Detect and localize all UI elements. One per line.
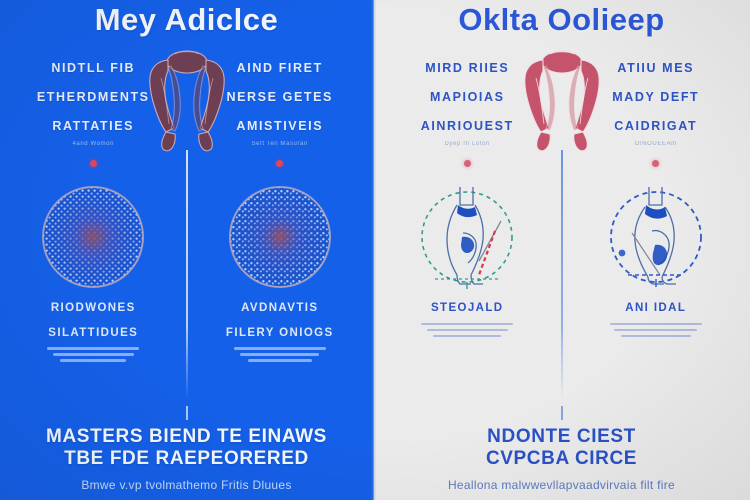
left-panel-title: Mey Adiclce [0, 2, 373, 38]
keyword: MIRD RIIES [373, 62, 562, 75]
footer-headline-line1: MASTERS BIEND TE EINAWS [14, 426, 359, 447]
keyword: RATTATIES [0, 120, 187, 133]
caption-rule [427, 329, 508, 332]
caption-rule [248, 359, 312, 362]
panel-divider [371, 0, 376, 500]
right-column-1: MIRD RIIES MAPIOIAS AINRIOUEST Dyep Ifi … [373, 58, 562, 341]
stipple-sphere-icon [226, 183, 334, 291]
caption-rule [47, 347, 139, 350]
stipple-sphere-figure-1 [39, 183, 147, 291]
caption-rule [421, 323, 513, 326]
footer-subtext: Heallona malwwevllapvaadvirvaia filt fir… [387, 478, 736, 492]
caption-rules [610, 323, 702, 338]
stipple-sphere-icon [39, 183, 147, 291]
figure-caption-line1: ANI IDAL [562, 301, 750, 315]
caption-rule [240, 353, 319, 356]
red-dot-marker-icon [276, 160, 283, 167]
micro-caption: 4and Womon [0, 141, 187, 147]
keyword: NIDTLL FIB [0, 62, 187, 75]
keyword: AMISTIVEIS [187, 120, 374, 133]
keyword: AIND FIRET [187, 62, 374, 75]
dashed-circle-figure-blue [602, 183, 710, 291]
caption-rules [234, 347, 326, 362]
figure-caption-line2: SILATTIDUES [0, 326, 187, 340]
right-panel-footer: NDONTE CIEST CVPCBA CIRCE Heallona malww… [373, 406, 750, 492]
poster-canvas: Mey Adiclce NIDTLL FIB ETHE [0, 0, 750, 500]
footer-tick-divider [561, 406, 563, 420]
figure-caption-line1: RIODWONES [0, 301, 187, 315]
pale-dot-marker-icon [464, 160, 471, 167]
caption-rule [621, 335, 691, 338]
dashed-circle-figure-teal [413, 183, 521, 291]
figure-caption-line2: FILERY ONIOGS [187, 326, 374, 340]
micro-caption: Seft Tell Masuran [187, 141, 374, 147]
caption-rule [234, 347, 326, 350]
footer-subtext: Bmwe v.vp tvolmathemo Fritis Dluues [14, 478, 359, 492]
footer-headline-line2: TBE FDE RAEPEORERED [14, 448, 359, 469]
keyword: NERSE GETES [187, 91, 374, 104]
caption-rule [60, 359, 126, 362]
caption-rule [433, 335, 501, 338]
keyword: MADY DEFT [562, 91, 750, 104]
keyword: ATIIU MES [562, 62, 750, 75]
posture-diagram-teal-icon [413, 183, 521, 291]
right-panel-title: Oklta Oolieep [373, 2, 750, 38]
figure-caption-line1: STEOJALD [373, 301, 562, 315]
footer-headline-line2: CVPCBA CIRCE [387, 448, 736, 469]
footer-tick-divider [186, 406, 188, 420]
stipple-sphere-figure-2 [226, 183, 334, 291]
keyword: AINRIOUEST [373, 120, 562, 133]
red-dot-marker-icon [90, 160, 97, 167]
caption-rule [610, 323, 702, 326]
micro-caption: Dyep Ifi Loton [373, 141, 562, 147]
pale-dot-marker-icon [652, 160, 659, 167]
posture-diagram-blue-icon [602, 183, 710, 291]
caption-rule [53, 353, 134, 356]
keyword: CAIDRIGAT [562, 120, 750, 133]
keyword: MAPIOIAS [373, 91, 562, 104]
caption-rules [421, 323, 513, 338]
caption-rules [47, 347, 139, 362]
caption-rule [614, 329, 697, 332]
keyword: ETHERDMENTS [0, 91, 187, 104]
right-column-2: ATIIU MES MADY DEFT CAIDRIGAT OINOUEEAm [562, 58, 750, 341]
left-panel-footer: MASTERS BIEND TE EINAWS TBE FDE RAEPEORE… [0, 406, 373, 492]
footer-headline-line1: NDONTE CIEST [387, 426, 736, 447]
left-panel: Mey Adiclce NIDTLL FIB ETHE [0, 0, 373, 500]
left-column-2: AIND FIRET NERSE GETES AMISTIVEIS Seft T… [187, 58, 374, 365]
left-column-1: NIDTLL FIB ETHERDMENTS RATTATIES 4and Wo… [0, 58, 187, 365]
right-panel: Oklta Oolieep MIRD RIIES MAP [373, 0, 750, 500]
micro-caption: OINOUEEAm [562, 141, 750, 147]
figure-caption-line1: AVDNAVTIS [187, 301, 374, 315]
